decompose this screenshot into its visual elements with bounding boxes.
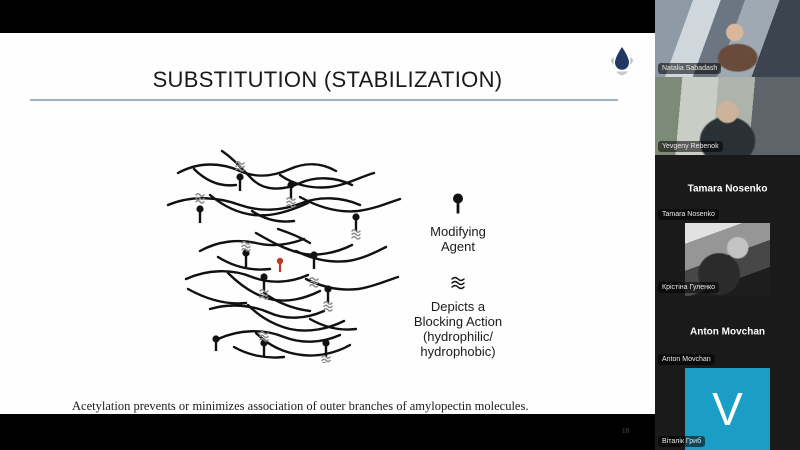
- legend-entry-modifying-agent: Modifying Agent: [383, 193, 533, 254]
- participant-tile[interactable]: Anton Movchan Anton Movchan: [655, 296, 800, 368]
- participant-tile[interactable]: Yevgeny Rebenok: [655, 77, 800, 155]
- pin-marker-icon: [383, 193, 533, 220]
- amylopectin-branch-diagram: [160, 133, 410, 363]
- legend-label: Depicts a: [383, 299, 533, 314]
- legend-entry-blocking-action: Depicts a Blocking Action (hydrophilic/ …: [383, 276, 533, 359]
- participant-tile[interactable]: Tamara Nosenko Tamara Nosenko: [655, 155, 800, 223]
- legend-label: hydrophobic): [383, 344, 533, 359]
- legend-label: Agent: [383, 239, 533, 254]
- title-divider: [30, 99, 618, 101]
- participant-center-name: Anton Movchan: [655, 327, 800, 338]
- legend-label: Modifying: [383, 224, 533, 239]
- participant-tile[interactable]: Natalia Sabadash: [655, 0, 800, 77]
- slide-page-number: 18: [622, 427, 629, 435]
- participant-name-label: Крістіна Гуленко: [658, 282, 719, 293]
- participant-name-label: Anton Movchan: [658, 354, 715, 365]
- participant-name-label: Віталік Гриб: [658, 436, 705, 447]
- presentation-slide: SUBSTITUTION (STABILIZATION): [0, 33, 655, 414]
- meeting-screen-share-view: SUBSTITUTION (STABILIZATION): [0, 0, 800, 450]
- legend-label: Blocking Action: [383, 314, 533, 329]
- legend-label: (hydrophilic/: [383, 329, 533, 344]
- wavy-lines-icon: [383, 276, 533, 295]
- diagram-legend: Modifying Agent: [383, 193, 533, 359]
- participant-name-label: Yevgeny Rebenok: [658, 141, 723, 152]
- participant-tile[interactable]: V Віталік Гриб: [655, 368, 800, 450]
- participant-tile[interactable]: Крістіна Гуленко: [655, 223, 800, 296]
- participant-name-label: Natalia Sabadash: [658, 63, 721, 74]
- participant-video-rail[interactable]: Natalia Sabadash Yevgeny Rebenok Tamara …: [655, 0, 800, 450]
- participant-name-label: Tamara Nosenko: [658, 209, 719, 220]
- slide-title: SUBSTITUTION (STABILIZATION): [0, 67, 655, 93]
- slide-caption: Acetylation prevents or minimizes associ…: [72, 399, 612, 414]
- shared-content-region: SUBSTITUTION (STABILIZATION): [0, 0, 655, 450]
- participant-center-name: Tamara Nosenko: [655, 184, 800, 195]
